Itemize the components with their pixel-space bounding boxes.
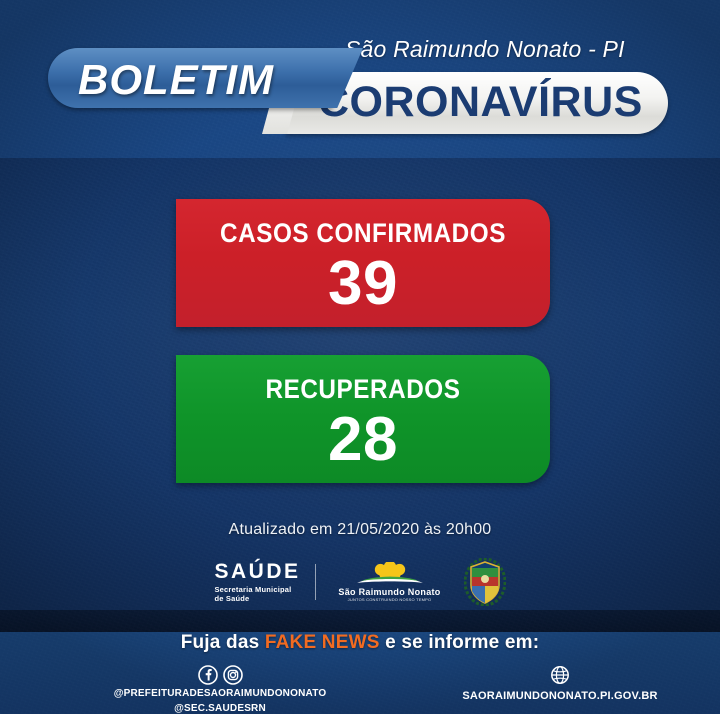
brasao-coat-of-arms-icon [464,558,506,606]
stat-label-confirmed: CASOS CONFIRMADOS [195,220,532,247]
website-icon-row [420,664,700,686]
city-logo-tagline: JUNTOS CONSTRUINDO NOSSO TEMPO [330,597,450,602]
saude-wordmark: SAÚDE [214,561,300,582]
stat-value-recovered: 28 [176,407,550,472]
logo-secretaria-saude: SAÚDE Secretaria Municipal de Saúde [214,561,300,604]
flower-sun-icon [332,562,448,586]
globe-icon[interactable] [550,665,570,685]
background-band-dark [0,610,720,632]
website-url[interactable]: SAORAIMUNDONONATO.PI.GOV.BR [420,690,700,702]
social-handle-prefeitura[interactable]: @PREFEITURADESAORAIMUNDONONATO [20,688,420,701]
logo-divider [315,564,316,600]
poster-header: São Raimundo Nonato - PI CORONAVÍRUS BOL… [0,0,720,160]
saude-subtitle-line1: Secretaria Municipal [214,585,300,594]
fake-news-warning: Fuja das FAKE NEWS e se informe em: [0,632,720,654]
stat-label-recovered: RECUPERADOS [195,376,532,403]
social-handle-secretaria[interactable]: @SEC.SAUDESRN [20,703,420,714]
logo-strip: SAÚDE Secretaria Municipal de Saúde São … [0,556,720,608]
city-subtitle: São Raimundo Nonato - PI [345,36,625,63]
stat-value-confirmed: 39 [176,251,550,316]
stat-card-recovered: RECUPERADOS 28 [176,355,550,483]
footer-social-column[interactable]: @PREFEITURADESAORAIMUNDONONATO @SEC.SAUD… [20,664,420,714]
saude-subtitle: Secretaria Municipal de Saúde [214,585,300,604]
fake-news-suffix: e se informe em: [380,632,540,653]
social-icon-row [20,664,420,686]
instagram-icon[interactable] [223,665,243,685]
saude-subtitle-line2: de Saúde [214,594,300,603]
facebook-icon[interactable] [198,665,218,685]
covid-bulletin-poster: São Raimundo Nonato - PI CORONAVÍRUS BOL… [0,0,720,714]
footer-contact-row: @PREFEITURADESAORAIMUNDONONATO @SEC.SAUD… [0,664,720,714]
footer-website-column[interactable]: SAORAIMUNDONONATO.PI.GOV.BR [420,664,700,702]
boletim-title: BOLETIM [78,56,274,104]
fake-news-highlight: FAKE NEWS [265,632,380,653]
updated-timestamp: Atualizado em 21/05/2020 às 20h00 [0,521,720,539]
logo-prefeitura-cidade: São Raimundo Nonato JUNTOS CONSTRUINDO N… [330,562,450,602]
stat-card-confirmed: CASOS CONFIRMADOS 39 [176,199,550,327]
fake-news-prefix: Fuja das [181,632,265,653]
city-logo-name: São Raimundo Nonato [330,587,450,597]
coronavirus-title: CORONAVÍRUS [318,78,643,127]
